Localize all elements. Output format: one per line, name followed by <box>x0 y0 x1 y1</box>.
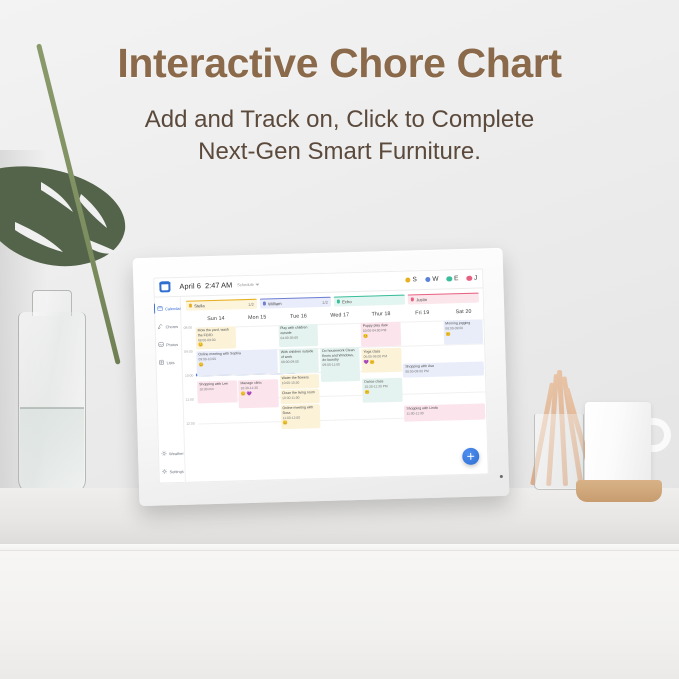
person-dot <box>263 302 266 305</box>
day-header[interactable]: Sun 14 <box>195 315 236 322</box>
person-column-header[interactable]: Echo <box>334 295 405 306</box>
vase-water <box>20 408 84 492</box>
person-column-header[interactable]: Stella1/2 <box>186 299 257 310</box>
event-time: 10:00-10:30 <box>282 380 318 385</box>
vase-waterline <box>20 407 84 409</box>
day-header[interactable]: Mon 15 <box>237 314 278 321</box>
event-reaction-emoji[interactable]: 😊 <box>199 360 276 368</box>
avatar-dot <box>405 277 411 283</box>
person-name: William <box>268 301 282 306</box>
calendar-event[interactable]: Do housework Clean floors and Windows, d… <box>320 346 360 381</box>
hour-label: 12:00 <box>186 421 195 425</box>
person-accent-bar <box>260 297 331 300</box>
person-accent-bar <box>186 299 257 302</box>
broom-icon <box>157 323 163 329</box>
avatar[interactable]: J <box>466 275 477 282</box>
calendar-event[interactable]: Morning jogging08:00-09:00😊 <box>443 319 483 344</box>
event-reaction-emoji[interactable]: 😊 <box>198 342 234 348</box>
calendar-event[interactable]: Shopping with Linda11:00-11:30 <box>404 403 485 421</box>
hour-label: 09:00 <box>184 349 193 353</box>
event-time: 10:30-11:00 <box>282 395 318 400</box>
subheadline-line-1: Add and Track on, Click to Complete <box>0 104 679 136</box>
current-date: April 6 <box>179 281 201 291</box>
day-header[interactable]: Fri 19 <box>402 309 443 316</box>
calendar-app-icon <box>159 281 170 292</box>
sun-icon <box>161 450 167 456</box>
current-time: 2:47 AM <box>205 280 232 290</box>
event-time: 10:30 min <box>199 386 235 391</box>
app-body: CalendarChoresPhotosLists WeatherSetting… <box>154 288 489 483</box>
event-time: 08:00-09:00 <box>281 359 317 364</box>
person-dot <box>411 298 414 301</box>
view-selector-label: Schedule <box>237 282 254 287</box>
event-reaction-emoji[interactable]: 😊 <box>445 330 481 336</box>
avatar[interactable]: E <box>447 275 459 282</box>
chevron-down-icon <box>255 283 259 285</box>
sidebar-item-lists[interactable]: Lists <box>155 358 181 367</box>
person-accent-bar <box>334 295 405 298</box>
hour-label: 11:00 <box>186 397 194 401</box>
person-task-count: 1/2 <box>248 301 254 306</box>
event-reaction-emoji[interactable]: 😊 <box>365 389 401 395</box>
tablet-indicator-light <box>500 475 503 478</box>
sidebar-item-label: Weather <box>169 450 184 455</box>
sidebar-item-chores[interactable]: Chores <box>154 322 180 331</box>
event-time: 11:00-11:30 <box>406 410 483 416</box>
calendar-icon <box>157 305 163 311</box>
event-time: 04:00-05:00 <box>280 335 316 340</box>
pencil-cup <box>534 414 584 490</box>
view-selector[interactable]: Schedule <box>237 282 259 288</box>
calendar-event[interactable]: Mow the yard, wash the FC/ID08:00-09:00😊 <box>196 326 236 349</box>
event-reaction-emoji[interactable]: 😊 <box>363 333 399 339</box>
calendar-event[interactable]: With children outside of work08:00-09:00 <box>279 348 319 373</box>
event-title: Mow the yard, wash the FC/ID <box>198 328 234 338</box>
gear-icon <box>161 468 167 474</box>
person-name: Justin <box>416 297 427 302</box>
sidebar-nav-primary: CalendarChoresPhotosLists <box>154 304 182 367</box>
avatar-dot <box>425 277 431 283</box>
avatar[interactable]: W <box>425 276 439 283</box>
scene: Interactive Chore Chart Add and Track on… <box>0 0 679 679</box>
hour-label: 10:00 <box>185 373 194 377</box>
person-name: Stella <box>194 303 205 308</box>
sidebar-item-label: Calendar <box>165 305 181 310</box>
calendar-event[interactable]: Online meeting with Ross11:00-12:00😊 <box>280 404 320 429</box>
calendar-app: April 6 2:47 AM Schedule SWEJ CalendarCh… <box>153 268 489 483</box>
avatar-initial: W <box>432 276 438 283</box>
desk-front-panel <box>0 550 679 679</box>
calendar-event[interactable]: Puppy play date03:00-04:00 PM😊 <box>361 321 401 346</box>
person-column-header[interactable]: Justin <box>408 293 479 304</box>
event-title: Online meeting with Ross <box>282 405 318 415</box>
person-column-header[interactable]: William1/2 <box>260 297 331 308</box>
calendar-grid: Mow the yard, wash the FC/ID08:00-09:00😊… <box>195 317 488 483</box>
event-title: With children outside of work <box>281 349 317 359</box>
person-task-count: 1/2 <box>322 299 328 304</box>
sidebar-nav-secondary: WeatherSettings <box>158 449 185 484</box>
cork-coaster <box>576 480 662 502</box>
event-time: 09:00-11:00 <box>322 362 358 367</box>
person-accent-bar <box>408 293 479 296</box>
sidebar-item-label: Settings <box>170 468 184 473</box>
sidebar-item-label: Lists <box>166 360 174 365</box>
day-header[interactable]: Thur 18 <box>360 310 401 317</box>
calendar-event[interactable]: Shopping with Asa08:00-09:00 PM <box>403 361 484 377</box>
calendar-event[interactable]: Online meeting with Sophia09:00-10:00😊 <box>196 349 277 375</box>
avatar-initial: E <box>454 275 459 282</box>
calendar-event[interactable]: Shopping with Lee10:30 min <box>197 380 237 403</box>
smart-display-device: April 6 2:47 AM Schedule SWEJ CalendarCh… <box>133 248 510 506</box>
tablet-screen: April 6 2:47 AM Schedule SWEJ CalendarCh… <box>153 268 489 483</box>
sidebar-item-weather[interactable]: Weather <box>158 449 184 458</box>
avatar-dot <box>447 276 453 282</box>
list-icon <box>158 359 164 365</box>
event-title: Do housework Clean floors and Windows, d… <box>322 348 358 362</box>
photo-icon <box>158 341 164 347</box>
sidebar-item-label: Photos <box>166 341 178 346</box>
page-headline: Interactive Chore Chart <box>0 40 679 87</box>
page-subheadline: Add and Track on, Click to Complete Next… <box>0 104 679 167</box>
event-reaction-emoji[interactable]: 😊 <box>283 419 319 425</box>
event-title: Play with children outside <box>280 325 316 335</box>
sidebar-item-label: Chores <box>165 323 178 328</box>
event-reaction-emoji[interactable]: 😊💜 <box>241 390 277 396</box>
day-header[interactable]: Tue 16 <box>278 313 319 320</box>
person-name: Echo <box>342 299 352 304</box>
avatar-initial: J <box>474 275 477 282</box>
person-dot <box>337 300 340 303</box>
avatar[interactable]: S <box>405 276 417 283</box>
avatar-dot <box>466 275 472 281</box>
day-header[interactable]: Sat 20 <box>443 308 484 315</box>
calendar-event[interactable]: Clean the living room10:30-11:00 <box>280 389 320 404</box>
sidebar-item-photos[interactable]: Photos <box>155 340 181 349</box>
avatar-list: SWEJ <box>405 275 478 284</box>
calendar-event[interactable]: Manage clinic10:30-11:30😊💜 <box>238 379 278 408</box>
event-time: 08:00-09:00 PM <box>405 368 482 374</box>
desk-front-seam <box>0 550 679 551</box>
calendar-event[interactable]: Yoga class05:00-06:00 PM💜😊 <box>361 347 401 372</box>
day-header[interactable]: Wed 17 <box>319 311 360 318</box>
coffee-mug <box>585 402 651 488</box>
hour-label: 08:00 <box>184 325 193 329</box>
avatar-initial: S <box>412 276 417 283</box>
calendar-event[interactable]: Play with children outside04:00-05:00 <box>278 324 318 347</box>
calendar-main: Stella1/2William1/2EchoJustin Sun 14Mon … <box>181 288 489 482</box>
calendar-event[interactable]: Water the flowers10:00-10:30 <box>279 374 319 389</box>
sidebar-item-calendar[interactable]: Calendar <box>154 304 180 313</box>
calendar-grid-wrap: 08:0009:0010:0011:0012:00 Mow the yard, … <box>182 317 489 483</box>
calendar-event[interactable]: Dance class10:30-11:30 PM😊 <box>362 377 402 402</box>
event-reaction-emoji[interactable]: 💜😊 <box>364 359 400 365</box>
sidebar-item-settings[interactable]: Settings <box>158 467 184 476</box>
person-dot <box>189 304 192 307</box>
